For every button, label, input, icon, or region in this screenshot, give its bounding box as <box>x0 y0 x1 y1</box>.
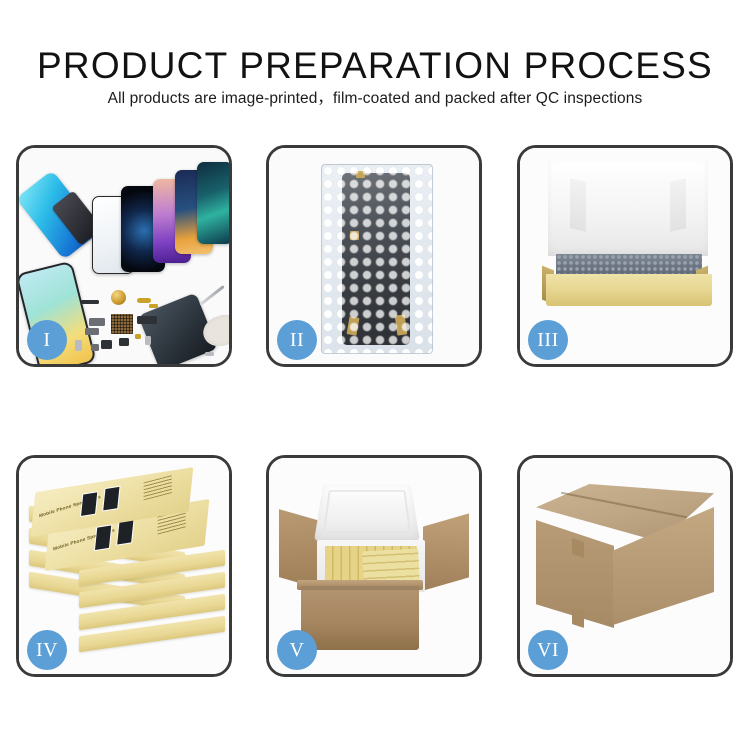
flex-cable-a <box>89 318 105 326</box>
grey-foam-padding <box>556 254 702 276</box>
lid-flap-right <box>670 178 686 231</box>
screw-set <box>145 336 151 345</box>
gold-contact <box>135 334 141 339</box>
badge-step-4: IV <box>27 630 67 670</box>
ic-chip-grid <box>111 314 133 334</box>
panel-step-4[interactable]: Mobile Phone Spare Parts Mobile Phone Sp… <box>16 455 232 677</box>
box-art-screen-1 <box>94 524 113 551</box>
antenna-strip <box>81 300 99 304</box>
product-preparation-infographic: PRODUCT PREPARATION PROCESS All products… <box>0 0 750 750</box>
carton-tape-lower <box>572 608 584 628</box>
panel-step-1[interactable]: I <box>16 145 232 367</box>
camera-module <box>101 340 112 349</box>
small-bracket <box>91 344 99 351</box>
bubble-wrap-bag <box>321 164 433 354</box>
tweezers-tool <box>199 285 224 306</box>
flex-cable-b <box>85 328 99 335</box>
sim-tray <box>75 340 82 351</box>
gold-flex-connector <box>137 298 151 303</box>
page-title: PRODUCT PREPARATION PROCESS <box>0 44 750 88</box>
badge-step-5: V <box>277 630 317 670</box>
foam-lid <box>314 485 420 541</box>
panel-step-5[interactable]: V <box>266 455 482 677</box>
screws-loose <box>205 352 214 356</box>
kraft-box-front <box>546 274 712 306</box>
gold-bracket <box>149 304 158 308</box>
carton-flap-right <box>423 513 469 590</box>
panel-step-2[interactable]: II <box>266 145 482 367</box>
vibration-motor <box>119 338 129 346</box>
panel-step-6[interactable]: VI <box>517 455 733 677</box>
flex-cable-c <box>137 316 157 324</box>
carton-body <box>301 586 419 650</box>
lid-flap-left <box>570 178 586 231</box>
box-spec-text-top <box>144 475 172 500</box>
badge-step-6: VI <box>528 630 568 670</box>
bubble-texture-overlay <box>322 165 432 353</box>
phone-screen-teal-wallpaper <box>197 162 229 244</box>
panel-step-3[interactable]: III <box>517 145 733 367</box>
box-art-screen-3 <box>80 491 98 517</box>
page-subtitle: All products are image-printed，film-coat… <box>0 88 750 110</box>
badge-step-1: I <box>27 320 67 360</box>
badge-step-2: II <box>277 320 317 360</box>
white-box-lid <box>548 162 708 256</box>
box-art-screen-4 <box>102 486 120 512</box>
carton-tape-upper <box>572 538 584 558</box>
badge-step-3: III <box>528 320 568 360</box>
speaker-module <box>111 290 126 305</box>
